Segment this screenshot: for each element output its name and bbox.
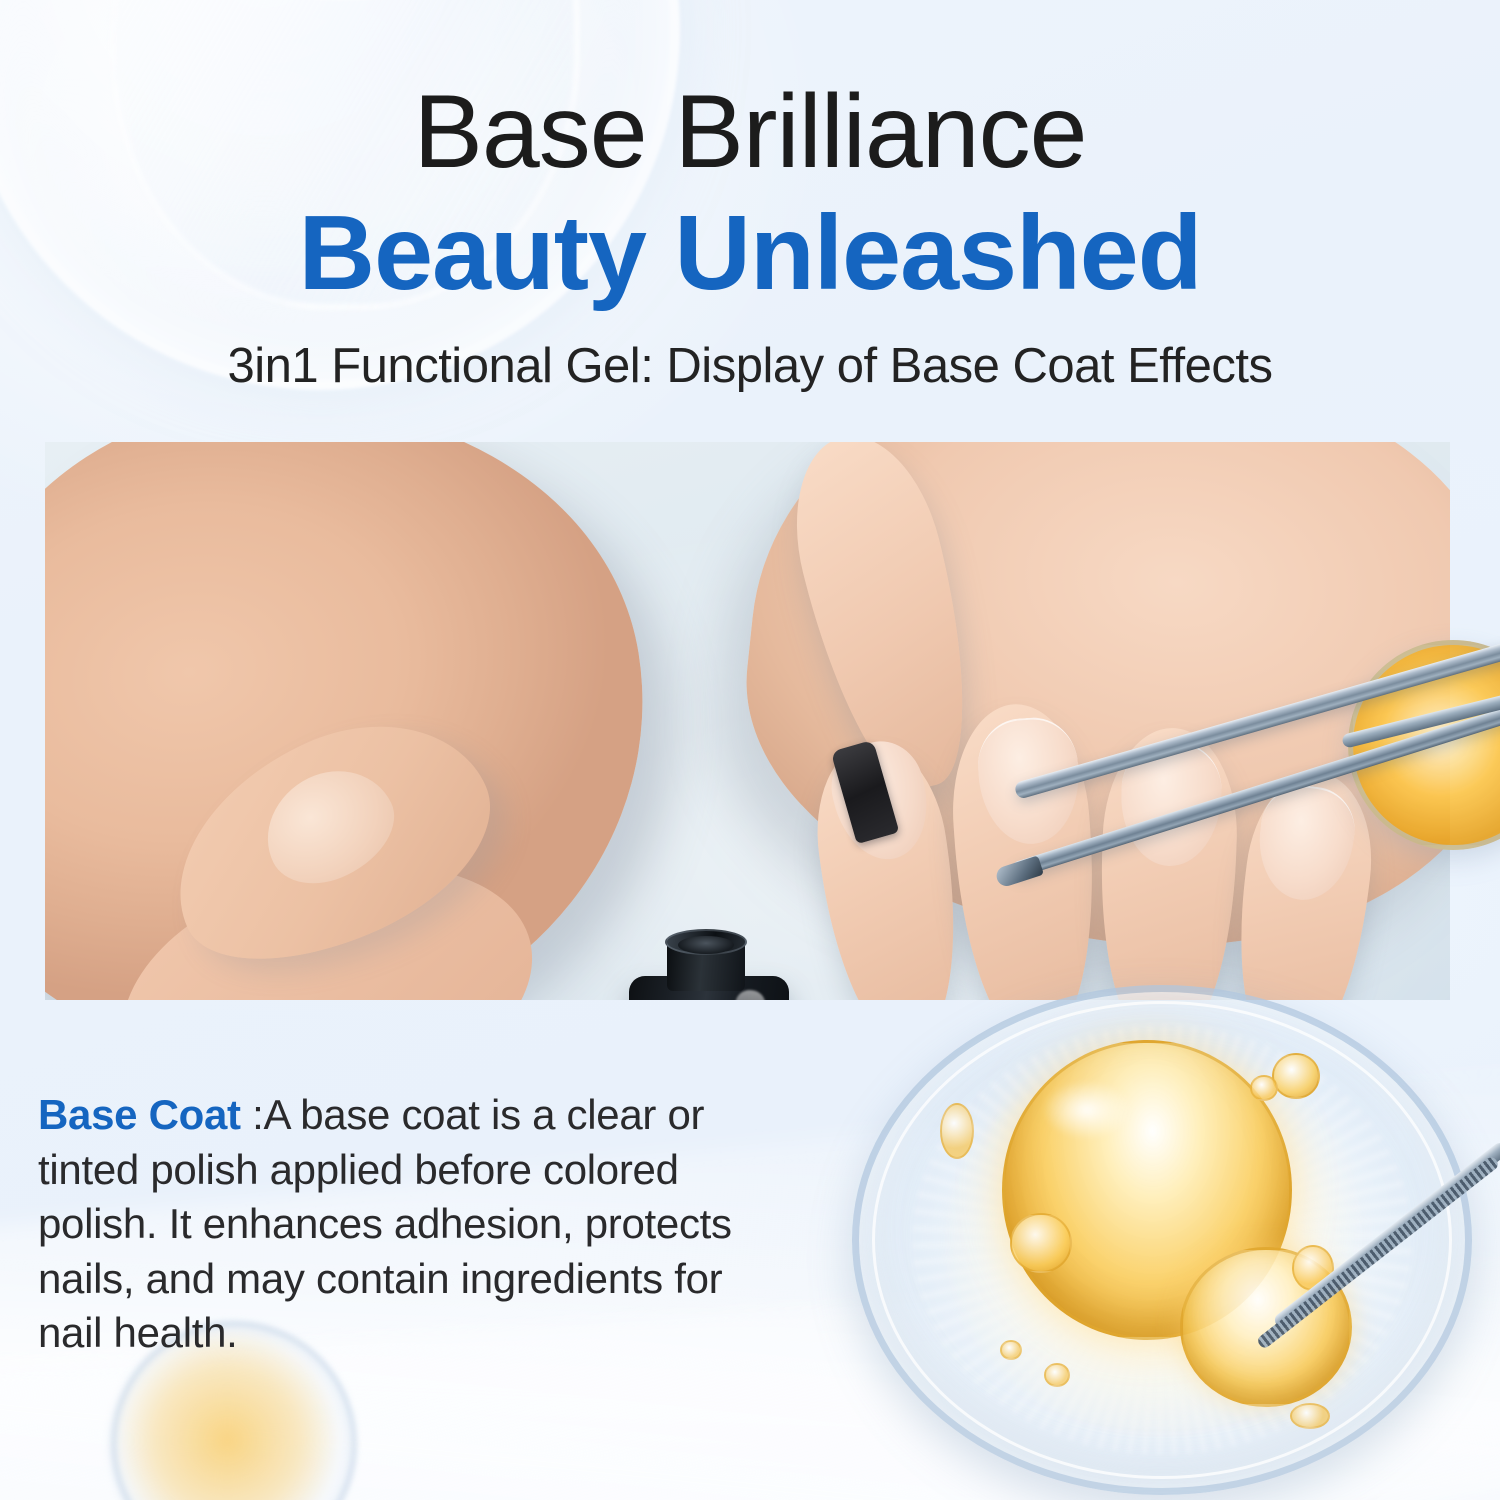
page-title-line2: Beauty Unleashed (0, 200, 1500, 306)
oil-droplet-highlight (1042, 1080, 1132, 1140)
oil-droplet-small-8 (1290, 1403, 1330, 1429)
base-coat-label: Base Coat (38, 1091, 241, 1138)
page-title-line1: Base Brilliance (0, 80, 1500, 184)
oil-droplet-small-1 (1272, 1053, 1320, 1099)
base-coat-separator: : (241, 1091, 264, 1138)
oil-droplet-small-3 (940, 1103, 974, 1159)
oil-droplet-small-6 (1044, 1363, 1070, 1387)
bottle-mouth (678, 936, 734, 954)
product-marketing-page: Base Brilliance Beauty Unleashed 3in1 Fu… (0, 0, 1500, 1500)
oil-droplet-small-2 (1250, 1075, 1278, 1101)
oil-droplet-small-4 (1010, 1213, 1072, 1273)
base-coat-description: Base Coat :A base coat is a clear or tin… (38, 1088, 778, 1361)
header-block: Base Brilliance Beauty Unleashed 3in1 Fu… (0, 0, 1500, 394)
page-subtitle: 3in1 Functional Gel: Display of Base Coa… (0, 340, 1500, 394)
oil-droplet-small-7 (1000, 1340, 1022, 1360)
